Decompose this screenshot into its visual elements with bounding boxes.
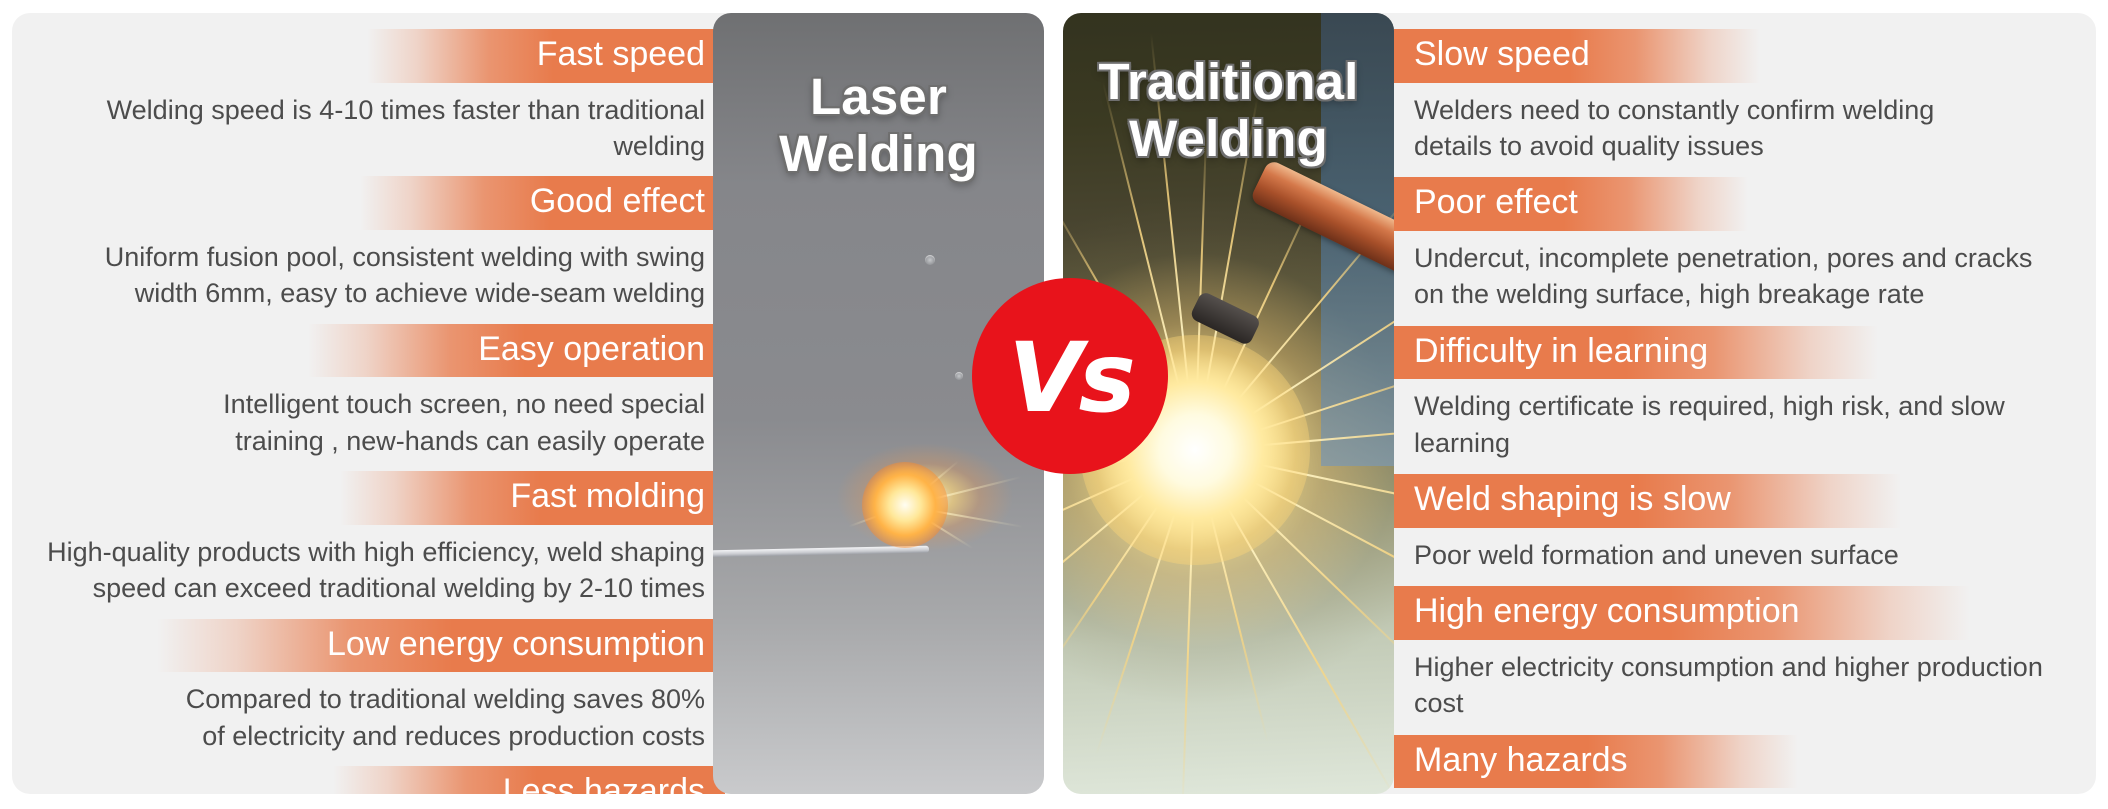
feature-item: Poor effect Undercut, incomplete penetra… [1394,177,2096,322]
feature-description: Poor weld formation and uneven surface [1394,528,2096,583]
machine-dot-icon [925,255,935,265]
feature-description: Welding slag and spatter brings hazards … [1394,788,2096,794]
feature-item: Low energy consumption Compared to tradi… [12,619,725,764]
feature-headline-wrap: High energy consumption [1394,586,2096,640]
feature-headline: Fast molding [340,471,725,525]
machine-dot-icon [955,372,963,380]
feature-item: Slow speed Welders need to constantly co… [1394,29,2096,174]
feature-description: Compared to traditional welding saves 80… [12,672,725,764]
feature-headline: Less hazards [333,766,725,794]
feature-description: Undercut, incomplete penetration, pores … [1394,231,2096,323]
feature-headline-wrap: Fast speed [12,29,725,83]
feature-item: Less hazards Less spatter, less pollutan… [12,766,725,794]
feature-description: Welding speed is 4-10 times faster than … [12,83,725,175]
feature-headline-wrap: Fast molding [12,471,725,525]
feature-item: Good effect Uniform fusion pool, consist… [12,176,725,321]
feature-description: Higher electricity consumption and highe… [1394,640,2096,732]
feature-headline: Fast speed [367,29,725,83]
feature-headline-wrap: Less hazards [12,766,725,794]
feature-headline-wrap: Low energy consumption [12,619,725,673]
feature-headline-wrap: Good effect [12,176,725,230]
traditional-welding-feature-list: Slow speed Welders need to constantly co… [1394,13,2096,794]
feature-headline: Many hazards [1394,735,1798,789]
feature-headline: Good effect [360,176,725,230]
feature-headline-wrap: Slow speed [1394,29,2096,83]
feature-headline-wrap: Difficulty in learning [1394,326,2096,380]
feature-description: Welding certificate is required, high ri… [1394,379,2096,471]
vs-badge: Vs [972,278,1168,474]
feature-description: Uniform fusion pool, consistent welding … [12,230,725,322]
feature-headline: Low energy consumption [157,619,725,673]
feature-item: Weld shaping is slow Poor weld formation… [1394,474,2096,583]
comparison-infographic: Fast speed Welding speed is 4-10 times f… [0,0,2108,809]
feature-headline-wrap: Poor effect [1394,177,2096,231]
feature-headline: High energy consumption [1394,586,1970,640]
laser-welding-feature-list: Fast speed Welding speed is 4-10 times f… [12,13,725,794]
feature-item: Many hazards Welding slag and spatter br… [1394,735,2096,794]
weld-spark [862,462,948,548]
feature-headline-wrap: Weld shaping is slow [1394,474,2096,528]
feature-item: Easy operation Intelligent touch screen,… [12,324,725,469]
feature-headline-wrap: Easy operation [12,324,725,378]
vs-label: Vs [1008,330,1131,426]
feature-item: Fast molding High-quality products with … [12,471,725,616]
feature-description: High-quality products with high efficien… [12,525,725,617]
feature-description: Intelligent touch screen, no need specia… [12,377,725,469]
feature-headline: Slow speed [1394,29,1760,83]
feature-description: Welders need to constantly confirm weldi… [1394,83,2096,175]
feature-item: Difficulty in learning Welding certifica… [1394,326,2096,471]
feature-headline: Weld shaping is slow [1394,474,1901,528]
feature-item: Fast speed Welding speed is 4-10 times f… [12,29,725,174]
feature-headline-wrap: Many hazards [1394,735,2096,789]
feature-headline: Easy operation [308,324,725,378]
feature-headline: Difficulty in learning [1394,326,1878,380]
feature-headline: Poor effect [1394,177,1748,231]
feature-item: High energy consumption Higher electrici… [1394,586,2096,731]
